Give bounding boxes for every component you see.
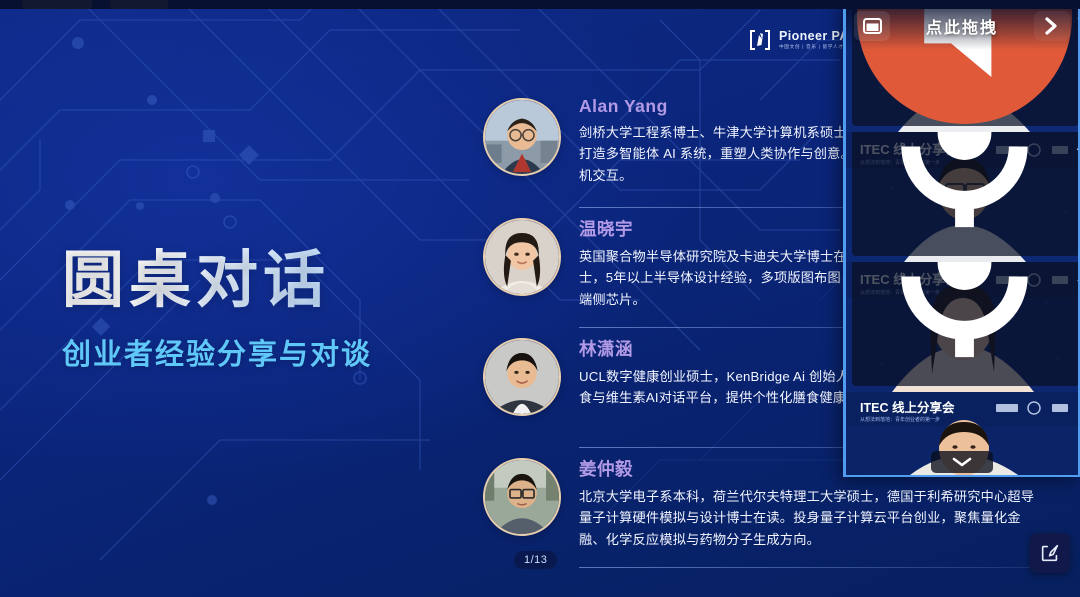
window-layout-icon xyxy=(863,18,882,34)
pioneer-park-logo-icon xyxy=(748,28,772,52)
panel-drag-bar[interactable]: 点此拖拽 xyxy=(846,2,1078,50)
annotate-button[interactable] xyxy=(1030,533,1070,573)
expand-panel-button[interactable] xyxy=(1034,11,1070,41)
chevron-down-icon xyxy=(951,456,973,468)
video-tile-grid: 林潇涵 ITEC 线上分享会 从想法到落地：青年创业者的第一步 xyxy=(846,2,1078,475)
page-title: 圆桌对话 xyxy=(62,248,482,313)
svg-text:从想法到落地：青年创业者的第一步: 从想法到落地：青年创业者的第一步 xyxy=(860,416,940,423)
participant-name: 主持人-李欣玥 xyxy=(1077,269,1079,284)
video-tile[interactable]: ITEC 线上分享会 从想法到落地：青年创业者的第一步 xyxy=(846,132,1079,262)
drag-hint-label: 点此拖拽 xyxy=(926,14,998,38)
annotate-pen-icon xyxy=(1039,542,1061,564)
speaker-bio: 北京大学电子系本科，荷兰代尔夫特理工大学硕士，德国于利希研究中心超导量子计算硬件… xyxy=(579,486,1043,550)
avatar-lin-xiaohan xyxy=(483,338,561,416)
avatar-alan-yang xyxy=(483,98,561,176)
participant-name: Alan Yang xyxy=(1077,141,1079,153)
page-indicator: 1/13 xyxy=(514,551,557,569)
slide-title-block: 圆桌对话 创业者经验分享与对谈 xyxy=(62,248,482,373)
floating-video-panel[interactable]: 林潇涵 ITEC 线上分享会 从想法到落地：青年创业者的第一步 xyxy=(843,0,1080,477)
divider xyxy=(579,567,1033,568)
collapse-panel-button[interactable] xyxy=(931,451,993,473)
microphone-icon xyxy=(857,262,1072,384)
microphone-icon xyxy=(857,132,1072,254)
avatar-wen-xiaoyu xyxy=(483,218,561,296)
window-layout-button[interactable] xyxy=(854,11,890,41)
video-tile[interactable]: ITEC 线上分享会 从想法到落地：青年创业者的第一步 xyxy=(846,262,1079,392)
chevron-right-icon xyxy=(1043,16,1060,36)
avatar-jiang-zhongyi xyxy=(483,458,561,536)
toolbar-chip[interactable] xyxy=(22,0,92,9)
svg-text:ITEC 线上分享会: ITEC 线上分享会 xyxy=(860,400,955,415)
participant-name-chip: Alan Yang xyxy=(852,132,1079,256)
page-subtitle: 创业者经验分享与对谈 xyxy=(62,331,482,373)
toolbar-chip[interactable] xyxy=(110,0,168,9)
system-toolbar-strip xyxy=(0,0,1080,9)
participant-name-chip: 主持人-李欣玥 xyxy=(852,262,1079,386)
